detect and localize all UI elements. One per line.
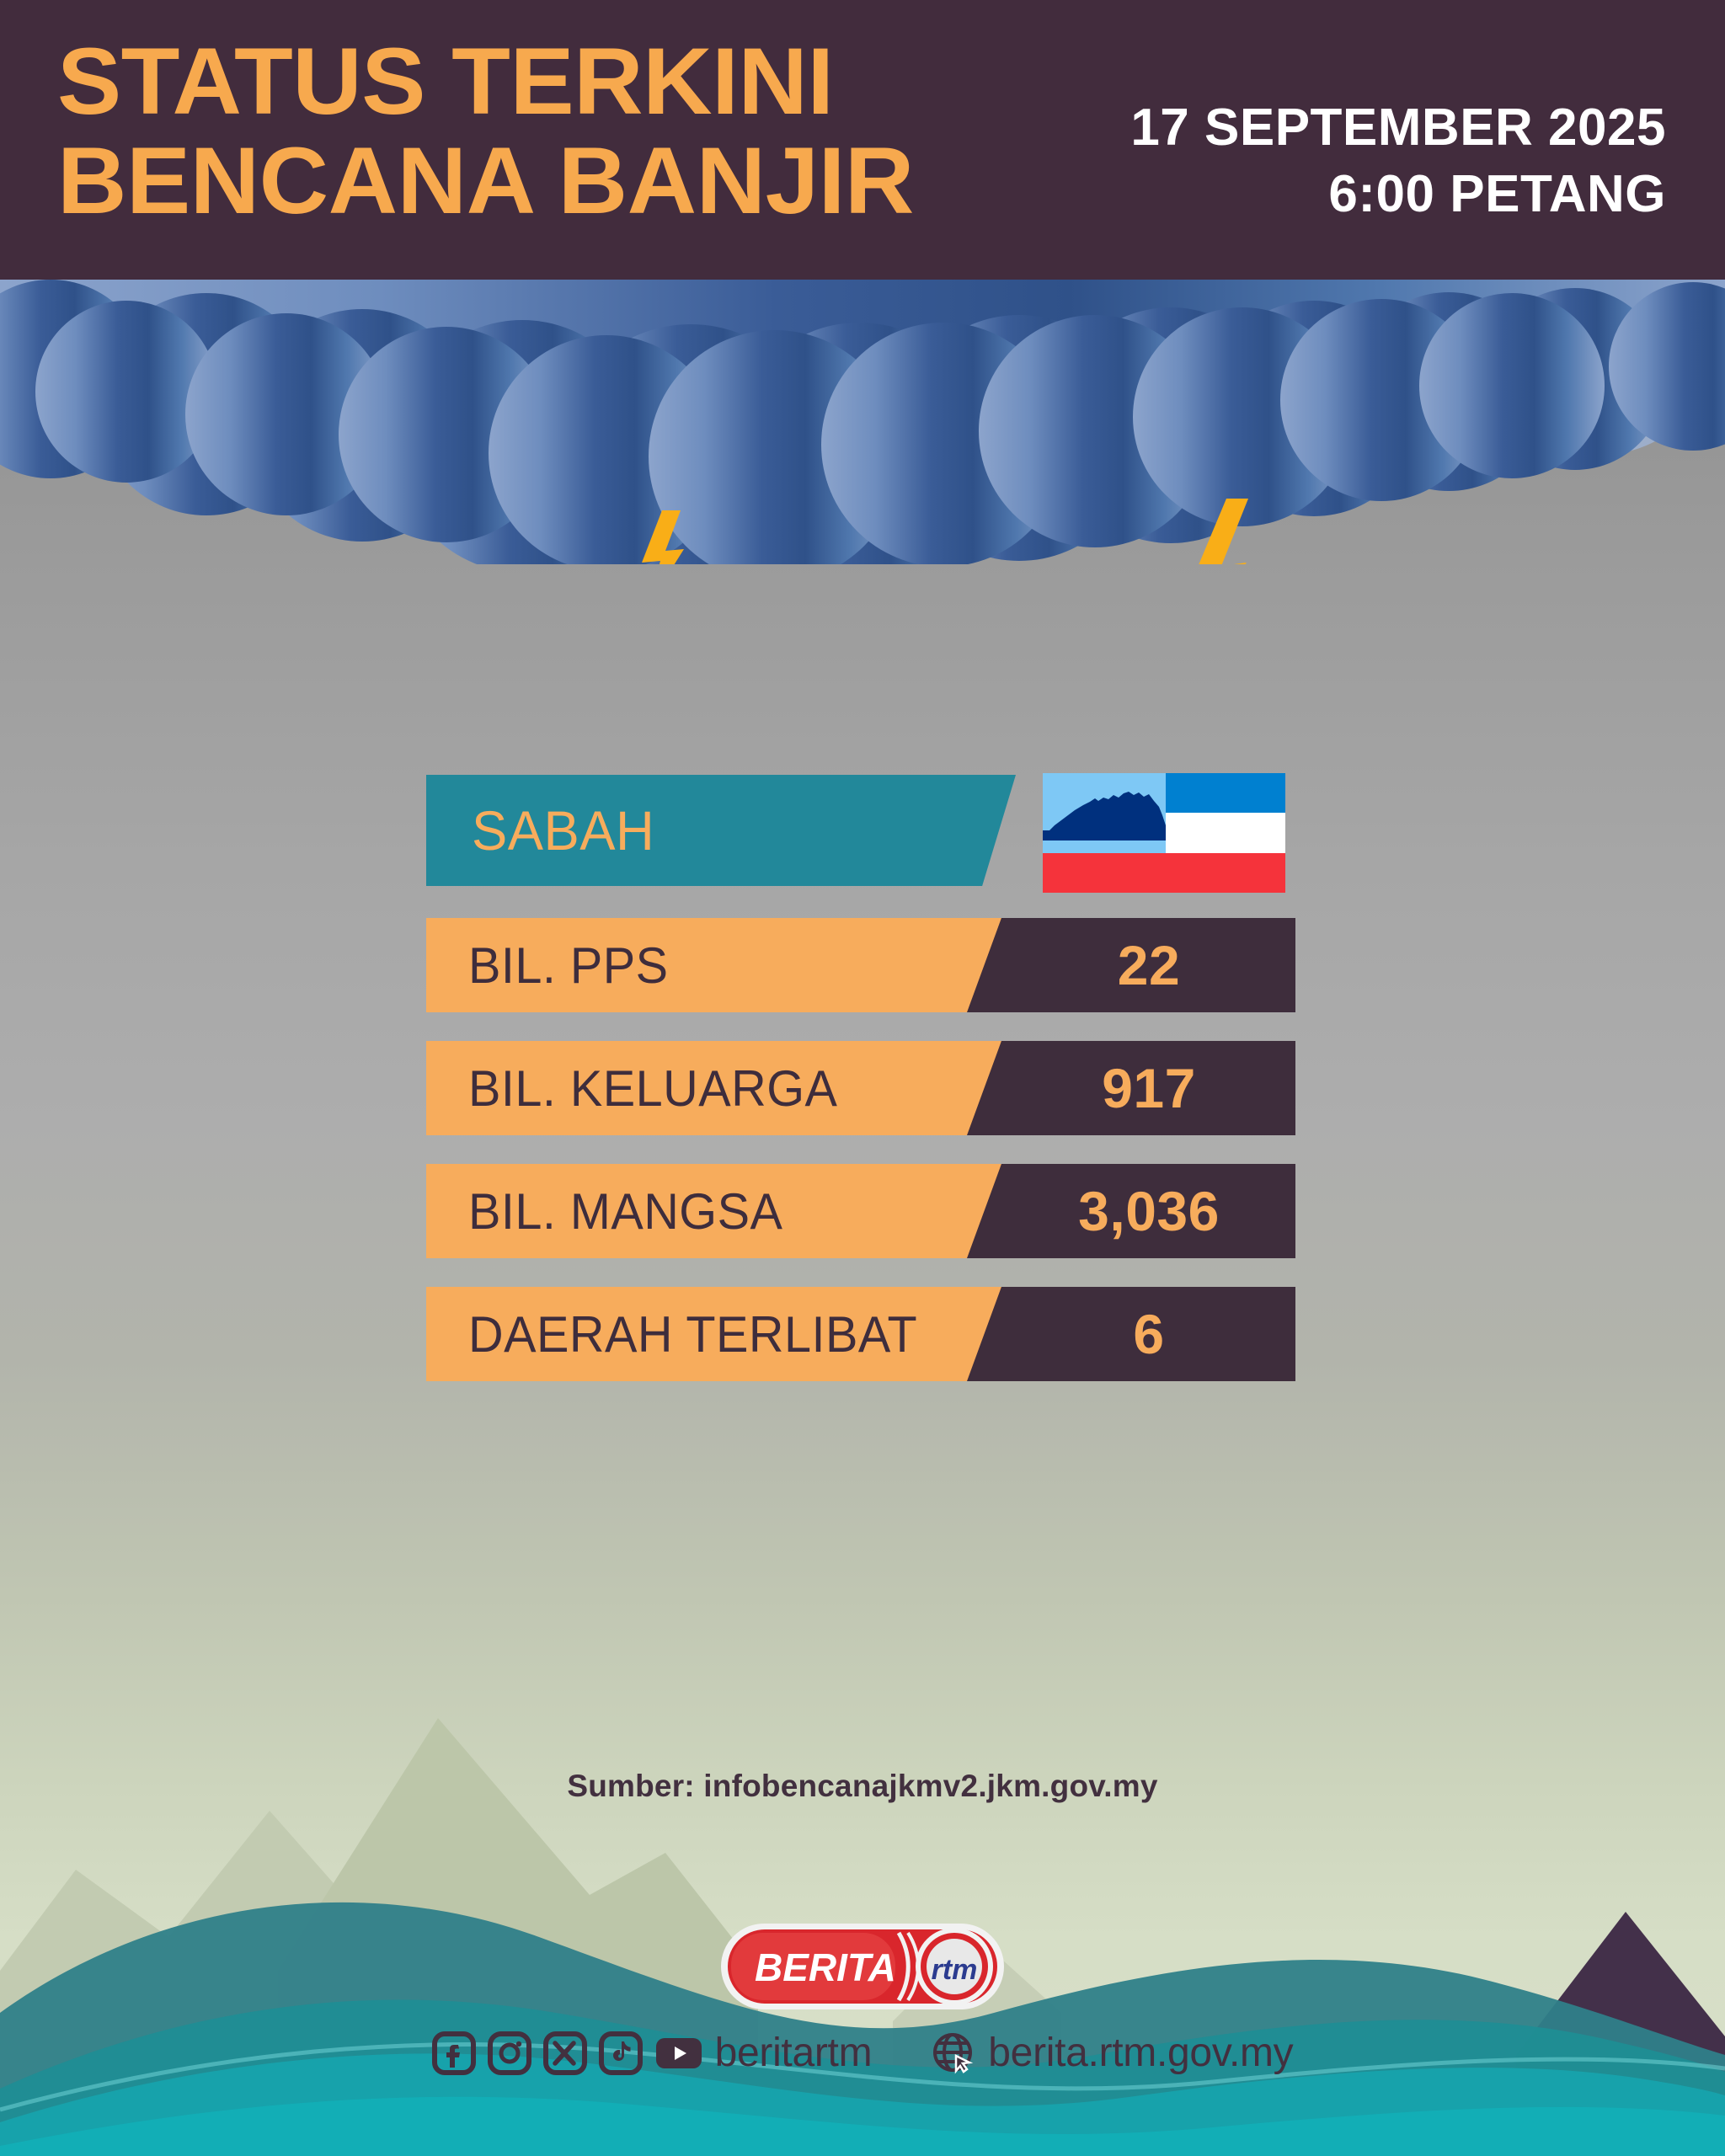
source-attribution: Sumber: infobencanajkmv2.jkm.gov.my (0, 1769, 1725, 1804)
stat-label-box: BIL. KELUARGA (426, 1041, 1016, 1135)
stat-value-box: 22 (967, 918, 1295, 1012)
social-handle-group: beritartm (432, 2030, 873, 2076)
sabah-flag (1043, 773, 1285, 893)
footer: BERITA rtm (0, 1903, 1725, 2156)
infographic-poster: STATUS TERKINI BENCANA BANJIR 17 SEPTEMB… (0, 0, 1725, 2156)
stat-value: 3,036 (1043, 1179, 1220, 1243)
stat-value-box: 6 (967, 1287, 1295, 1381)
stats-panel: SABAH BIL. PPS 22 BIL. KELUARGA (0, 775, 1725, 1410)
youtube-icon[interactable] (654, 2031, 703, 2075)
stat-label-box: DAERAH TERLIBAT (426, 1287, 1016, 1381)
page-title: STATUS TERKINI BENCANA BANJIR (57, 32, 914, 230)
stat-value: 22 (1082, 933, 1180, 997)
logo-berita-text: BERITA (755, 1945, 896, 1989)
stat-row-daerah: DAERAH TERLIBAT 6 (0, 1287, 1725, 1381)
logo-rtm-text: rtm (932, 1954, 978, 1986)
stat-label: DAERAH TERLIBAT (468, 1305, 917, 1364)
state-name: SABAH (472, 798, 654, 862)
stat-label-box: BIL. PPS (426, 918, 1016, 1012)
tiktok-icon[interactable] (599, 2031, 643, 2075)
globe-icon[interactable] (931, 2031, 976, 2076)
stat-row-keluarga: BIL. KELUARGA 917 (0, 1041, 1725, 1135)
stat-label: BIL. PPS (468, 937, 669, 995)
state-name-bar: SABAH (426, 775, 1016, 886)
stat-row-mangsa: BIL. MANGSA 3,036 (0, 1164, 1725, 1258)
cloud-main-layer (0, 278, 1725, 564)
stat-value-box: 3,036 (967, 1164, 1295, 1258)
date-time-block: 17 SEPTEMBER 2025 6:00 PETANG (1130, 94, 1666, 228)
website-text[interactable]: berita.rtm.gov.my (988, 2030, 1293, 2076)
x-twitter-icon[interactable] (543, 2031, 587, 2075)
stat-value: 917 (1066, 1056, 1196, 1120)
report-time: 6:00 PETANG (1130, 161, 1666, 227)
facebook-icon[interactable] (432, 2031, 476, 2075)
report-date: 17 SEPTEMBER 2025 (1130, 94, 1666, 161)
stat-value-box: 917 (967, 1041, 1295, 1135)
stat-row-pps: BIL. PPS 22 (0, 918, 1725, 1012)
social-links-row: beritartm berita.rtm.gov.my (0, 2030, 1725, 2076)
social-handle-text[interactable]: beritartm (715, 2030, 873, 2076)
stat-value: 6 (1097, 1302, 1164, 1366)
stat-label: BIL. KELUARGA (468, 1059, 837, 1118)
website-group: berita.rtm.gov.my (931, 2030, 1293, 2076)
stat-label-box: BIL. MANGSA (426, 1164, 1016, 1258)
storm-clouds-illustration (0, 278, 1725, 564)
state-row: SABAH (0, 775, 1725, 886)
stat-label: BIL. MANGSA (468, 1182, 782, 1241)
instagram-icon[interactable] (488, 2031, 531, 2075)
berita-rtm-logo[interactable]: BERITA rtm (719, 1920, 1006, 2013)
header-bar: STATUS TERKINI BENCANA BANJIR 17 SEPTEMB… (0, 0, 1725, 280)
